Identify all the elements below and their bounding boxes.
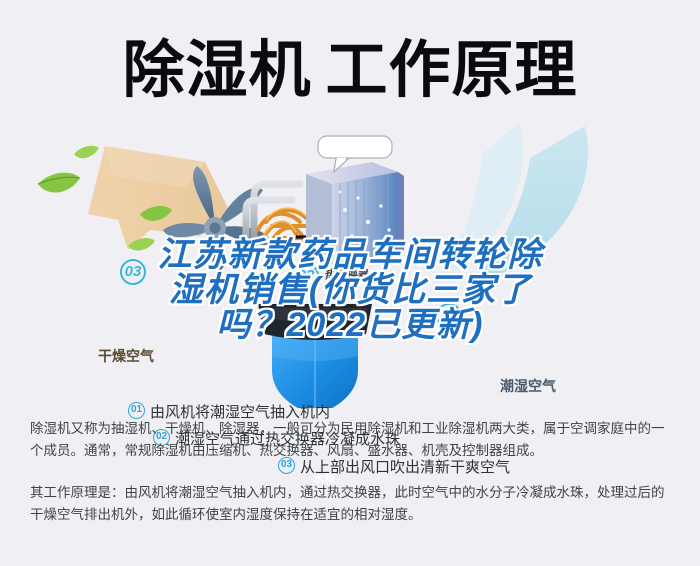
label-dry-air: 干燥空气: [98, 346, 154, 366]
machine-base: [258, 304, 372, 340]
water-tank: [272, 336, 358, 408]
diagram-number-02: 02: [293, 263, 319, 289]
diagram-number-01: 01: [436, 303, 462, 329]
page-root: 除湿机工作原理: [0, 0, 700, 566]
body-paragraph-1: 除湿机又称为抽湿机、干燥机、除湿器，一般可分为民用除湿机和工业除湿机两大类，属于…: [30, 418, 675, 462]
caption-number-01: 01: [128, 402, 145, 419]
page-title-part2: 工作原理: [326, 36, 578, 105]
page-title: 除湿机工作原理: [0, 28, 700, 114]
label-heat-exchanger: 热交换器: [325, 266, 369, 282]
label-wet-air: 潮湿空气: [500, 376, 556, 396]
body-paragraph-2: 其工作原理是：由风机将潮湿空气抽入机内，通过热交换器，此时空气中的水分子冷凝成水…: [30, 482, 675, 526]
heat-exchanger-unit: [306, 162, 404, 264]
airflow-arc-decoration: [432, 122, 588, 286]
diagram-number-03: 03: [120, 259, 146, 285]
dehumidifier-principle-illustration: 03 02 01 干燥空气 潮湿空气 热交换器 水箱 01 由风机将潮湿空气抽入…: [0, 118, 700, 408]
page-title-text: 除湿机工作原理: [122, 28, 577, 114]
page-title-part1: 除湿机: [122, 36, 311, 105]
